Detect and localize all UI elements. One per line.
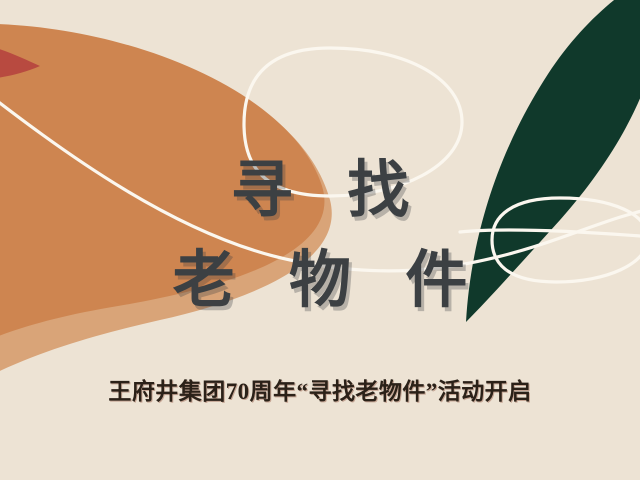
background-artwork [0, 0, 640, 480]
poster-canvas: 寻 找 老 物 件 王府井集团70周年“寻找老物件”活动开启 [0, 0, 640, 480]
